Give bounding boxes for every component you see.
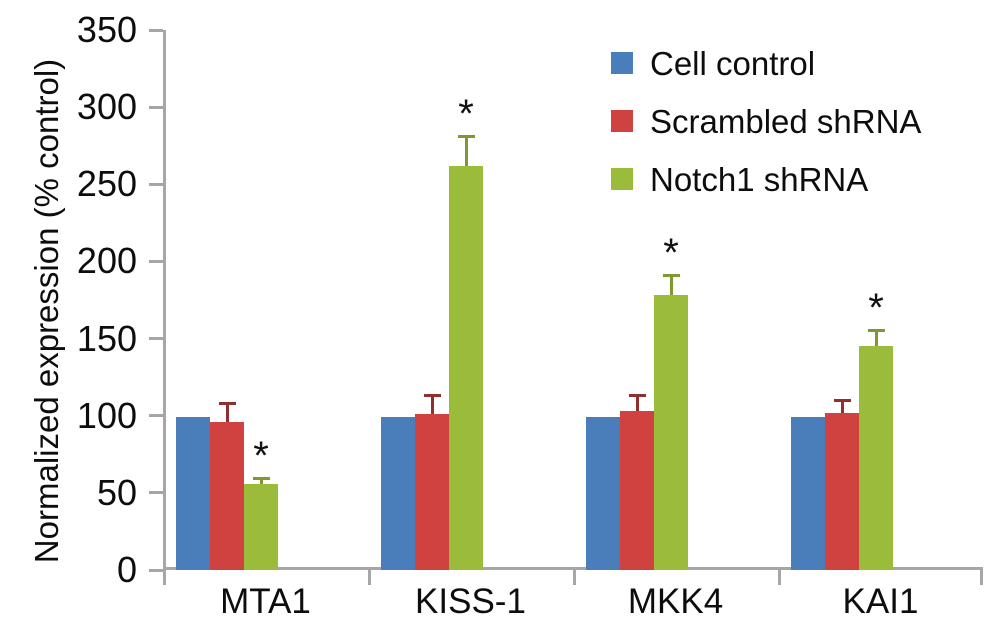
bar-rect: [654, 295, 688, 570]
x-axis-category-label: MKK4: [573, 584, 778, 619]
y-axis-tick-label: 100: [27, 398, 137, 434]
error-bar: [636, 394, 639, 411]
y-axis-tick: [149, 569, 163, 572]
y-axis-tick-label: 150: [27, 321, 137, 357]
bar-rect: [415, 414, 449, 570]
y-axis-tick: [149, 183, 163, 186]
error-bar-cap: [629, 394, 646, 397]
y-axis-tick: [149, 414, 163, 417]
x-axis-tick: [778, 570, 781, 585]
x-axis-tick: [980, 570, 983, 585]
bar-rect: [210, 422, 244, 570]
x-axis-tick: [573, 570, 576, 585]
legend-label: Notch1 shRNA: [650, 163, 868, 196]
bar-rect: [244, 484, 278, 570]
y-axis-tick-label: 350: [27, 12, 137, 48]
error-bar: [226, 402, 229, 422]
x-axis-category-label: KISS-1: [368, 584, 573, 619]
error-bar-cap: [834, 399, 851, 402]
x-axis-tick: [368, 570, 371, 585]
bar-rect: [586, 417, 620, 570]
error-bar-cap: [424, 394, 441, 397]
legend-swatch-icon: [611, 110, 633, 132]
bar-rect: [176, 417, 210, 570]
y-axis-tick: [149, 29, 163, 32]
x-axis-category-label: MTA1: [163, 584, 368, 619]
x-axis-category-label: KAI1: [778, 584, 983, 619]
bar-rect: [859, 346, 893, 570]
y-axis-tick: [149, 106, 163, 109]
y-axis-tick: [149, 491, 163, 494]
legend-label: Cell control: [650, 47, 815, 80]
y-axis-tick: [149, 337, 163, 340]
y-axis-tick-label: 200: [27, 243, 137, 279]
y-axis-tick-label: 50: [27, 475, 137, 511]
error-bar: [465, 135, 468, 166]
error-bar-cap: [219, 402, 236, 405]
x-axis-tick: [163, 570, 166, 585]
error-bar: [431, 394, 434, 414]
significance-marker: *: [868, 297, 884, 319]
legend-item[interactable]: Notch1 shRNA: [611, 150, 921, 208]
bar-rect: [381, 417, 415, 570]
bar-rect: [825, 413, 859, 570]
error-bar: [670, 274, 673, 296]
bar-rect: [449, 166, 483, 570]
error-bar: [875, 329, 878, 346]
y-axis-tick-label: 300: [27, 89, 137, 125]
y-axis-tick-label: 0: [27, 552, 137, 588]
legend: Cell controlScrambled shRNANotch1 shRNA: [611, 34, 921, 208]
legend-item[interactable]: Cell control: [611, 34, 921, 92]
legend-swatch-icon: [611, 168, 633, 190]
bar-rect: [620, 411, 654, 570]
bar-rect: [791, 417, 825, 570]
significance-marker: *: [458, 103, 474, 125]
legend-item[interactable]: Scrambled shRNA: [611, 92, 921, 150]
y-axis-tick: [149, 260, 163, 263]
y-axis-tick-label: 250: [27, 166, 137, 202]
bar-chart: Normalized expression (% control) **** 0…: [0, 0, 997, 629]
legend-label: Scrambled shRNA: [650, 105, 921, 138]
bar-group: *: [368, 30, 573, 570]
legend-swatch-icon: [611, 52, 633, 74]
error-bar: [841, 399, 844, 413]
bar-group: *: [163, 30, 368, 570]
significance-marker: *: [253, 445, 269, 467]
significance-marker: *: [663, 242, 679, 264]
